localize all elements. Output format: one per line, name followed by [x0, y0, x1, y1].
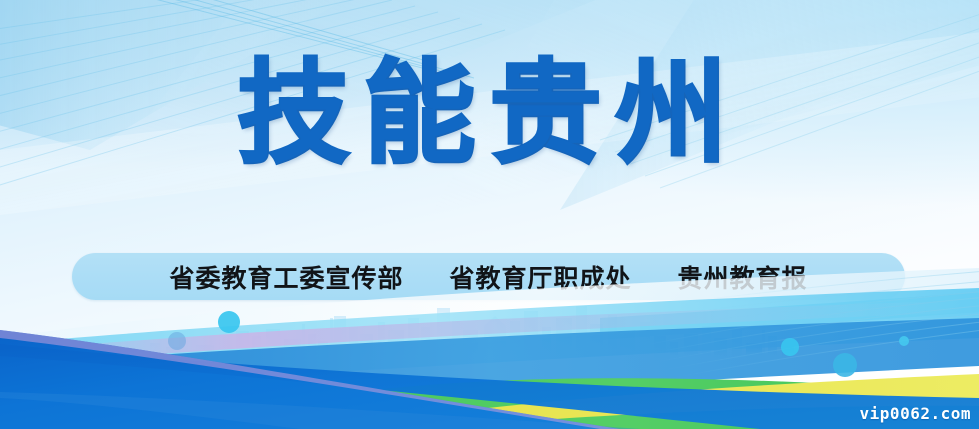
promo-banner: 技能贵州 省委教育工委宣传部 省教育厅职成处 贵州教育报	[0, 0, 979, 429]
watermark: vip0062.com	[860, 404, 971, 423]
bottom-wave-decoration	[0, 0, 979, 429]
